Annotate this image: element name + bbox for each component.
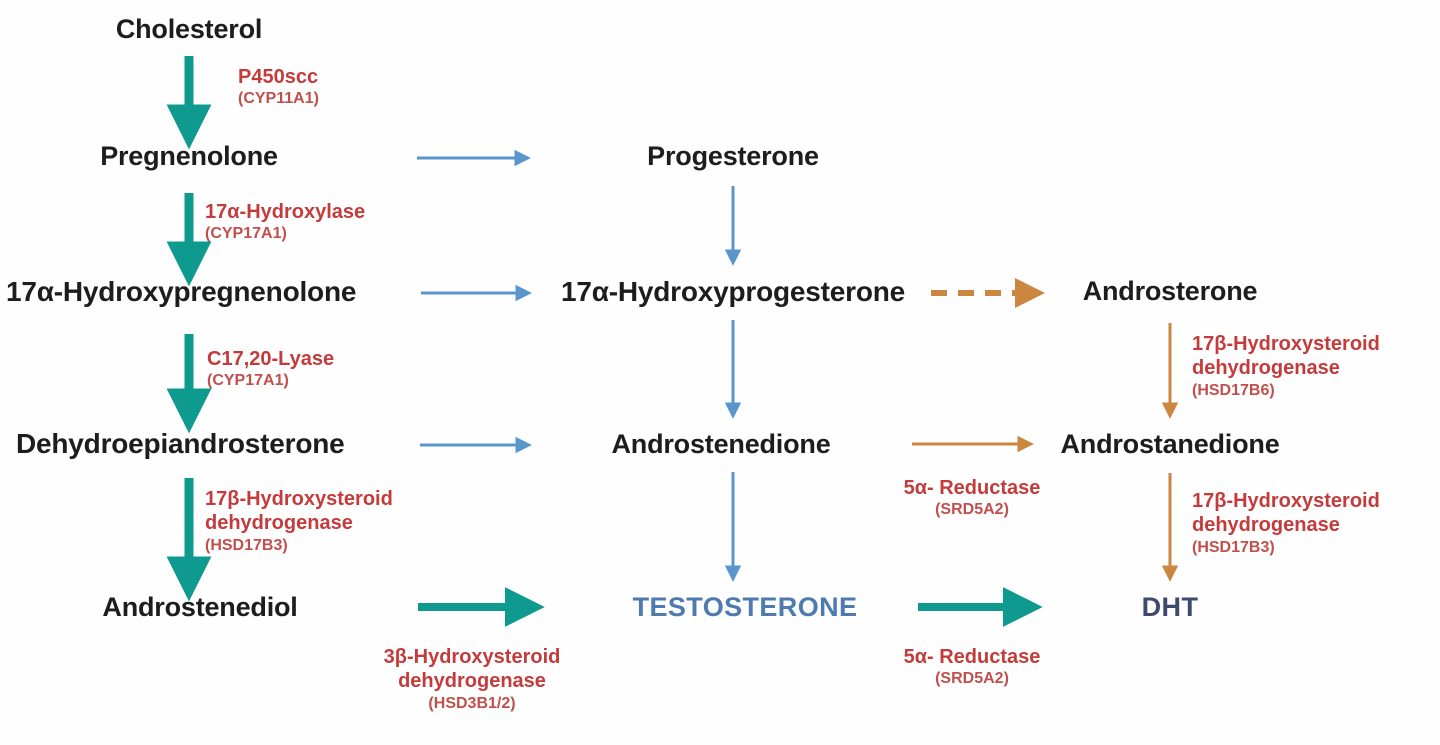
enzyme-srd5a2-bottom-gene: (SRD5A2) — [904, 669, 1041, 689]
enzyme-p450scc-gene: (CYP11A1) — [238, 89, 319, 109]
enzyme-p450scc-name: P450scc — [238, 65, 319, 89]
enzyme-17a-hydroxylase-gene: (CYP17A1) — [205, 224, 365, 244]
node-pregnenolone: Pregnenolone — [100, 143, 278, 170]
enzyme-17a-hydroxylase-name: 17α-Hydroxylase — [205, 200, 365, 224]
enzyme-hsd17b6-gene: (HSD17B6) — [1192, 381, 1380, 401]
enzyme-hsd17b6-line2: dehydrogenase — [1192, 356, 1380, 380]
node-androstenedione: Androstenedione — [611, 431, 830, 458]
enzyme-c17-20-lyase-name: C17,20-Lyase — [207, 347, 334, 371]
enzyme-srd5a2-bottom-name: 5α- Reductase — [904, 645, 1041, 669]
node-androsterone: Androsterone — [1083, 278, 1258, 305]
node-17a-hydroxyprogesterone: 17α-Hydroxyprogesterone — [561, 278, 905, 306]
node-androstanedione: Androstanedione — [1060, 431, 1279, 458]
node-dht: DHT — [1142, 594, 1199, 621]
enzyme-c17-20-lyase-gene: (CYP17A1) — [207, 371, 334, 391]
enzyme-hsd17b3-right: 17β-Hydroxysteroid dehydrogenase (HSD17B… — [1192, 489, 1380, 557]
enzyme-srd5a2-middle-gene: (SRD5A2) — [904, 500, 1041, 520]
enzyme-hsd3b-line1: 3β-Hydroxysteroid — [384, 645, 561, 669]
node-cholesterol: Cholesterol — [116, 16, 262, 43]
enzyme-hsd17b6: 17β-Hydroxysteroid dehydrogenase (HSD17B… — [1192, 332, 1380, 400]
enzyme-hsd17b3-left: 17β-Hydroxysteroid dehydrogenase (HSD17B… — [205, 487, 393, 555]
enzyme-srd5a2-bottom: 5α- Reductase (SRD5A2) — [904, 645, 1041, 689]
enzyme-hsd17b3-right-line1: 17β-Hydroxysteroid — [1192, 489, 1380, 513]
enzyme-hsd3b-gene: (HSD3B1/2) — [384, 694, 561, 714]
enzyme-hsd17b6-line1: 17β-Hydroxysteroid — [1192, 332, 1380, 356]
enzyme-hsd17b3-right-gene: (HSD17B3) — [1192, 538, 1380, 558]
node-testosterone: TESTOSTERONE — [633, 594, 858, 621]
enzyme-c17-20-lyase: C17,20-Lyase (CYP17A1) — [207, 347, 334, 391]
enzyme-p450scc: P450scc (CYP11A1) — [238, 65, 319, 109]
enzyme-hsd3b-line2: dehydrogenase — [384, 669, 561, 693]
pathway-diagram: Cholesterol Pregnenolone 17α-Hydroxypreg… — [0, 0, 1440, 745]
enzyme-hsd3b: 3β-Hydroxysteroid dehydrogenase (HSD3B1/… — [384, 645, 561, 713]
enzyme-srd5a2-middle: 5α- Reductase (SRD5A2) — [904, 476, 1041, 520]
enzyme-srd5a2-middle-name: 5α- Reductase — [904, 476, 1041, 500]
node-androstenediol: Androstenediol — [102, 594, 297, 621]
enzyme-hsd17b3-left-line1: 17β-Hydroxysteroid — [205, 487, 393, 511]
enzyme-hsd17b3-right-line2: dehydrogenase — [1192, 513, 1380, 537]
enzyme-hsd17b3-left-line2: dehydrogenase — [205, 511, 393, 535]
node-17a-hydroxypregnenolone: 17α-Hydroxypregnenolone — [6, 278, 356, 306]
enzyme-hsd17b3-left-gene: (HSD17B3) — [205, 536, 393, 556]
enzyme-17a-hydroxylase: 17α-Hydroxylase (CYP17A1) — [205, 200, 365, 244]
node-dehydroepiandrosterone: Dehydroepiandrosterone — [16, 430, 345, 458]
node-progesterone: Progesterone — [647, 143, 819, 170]
